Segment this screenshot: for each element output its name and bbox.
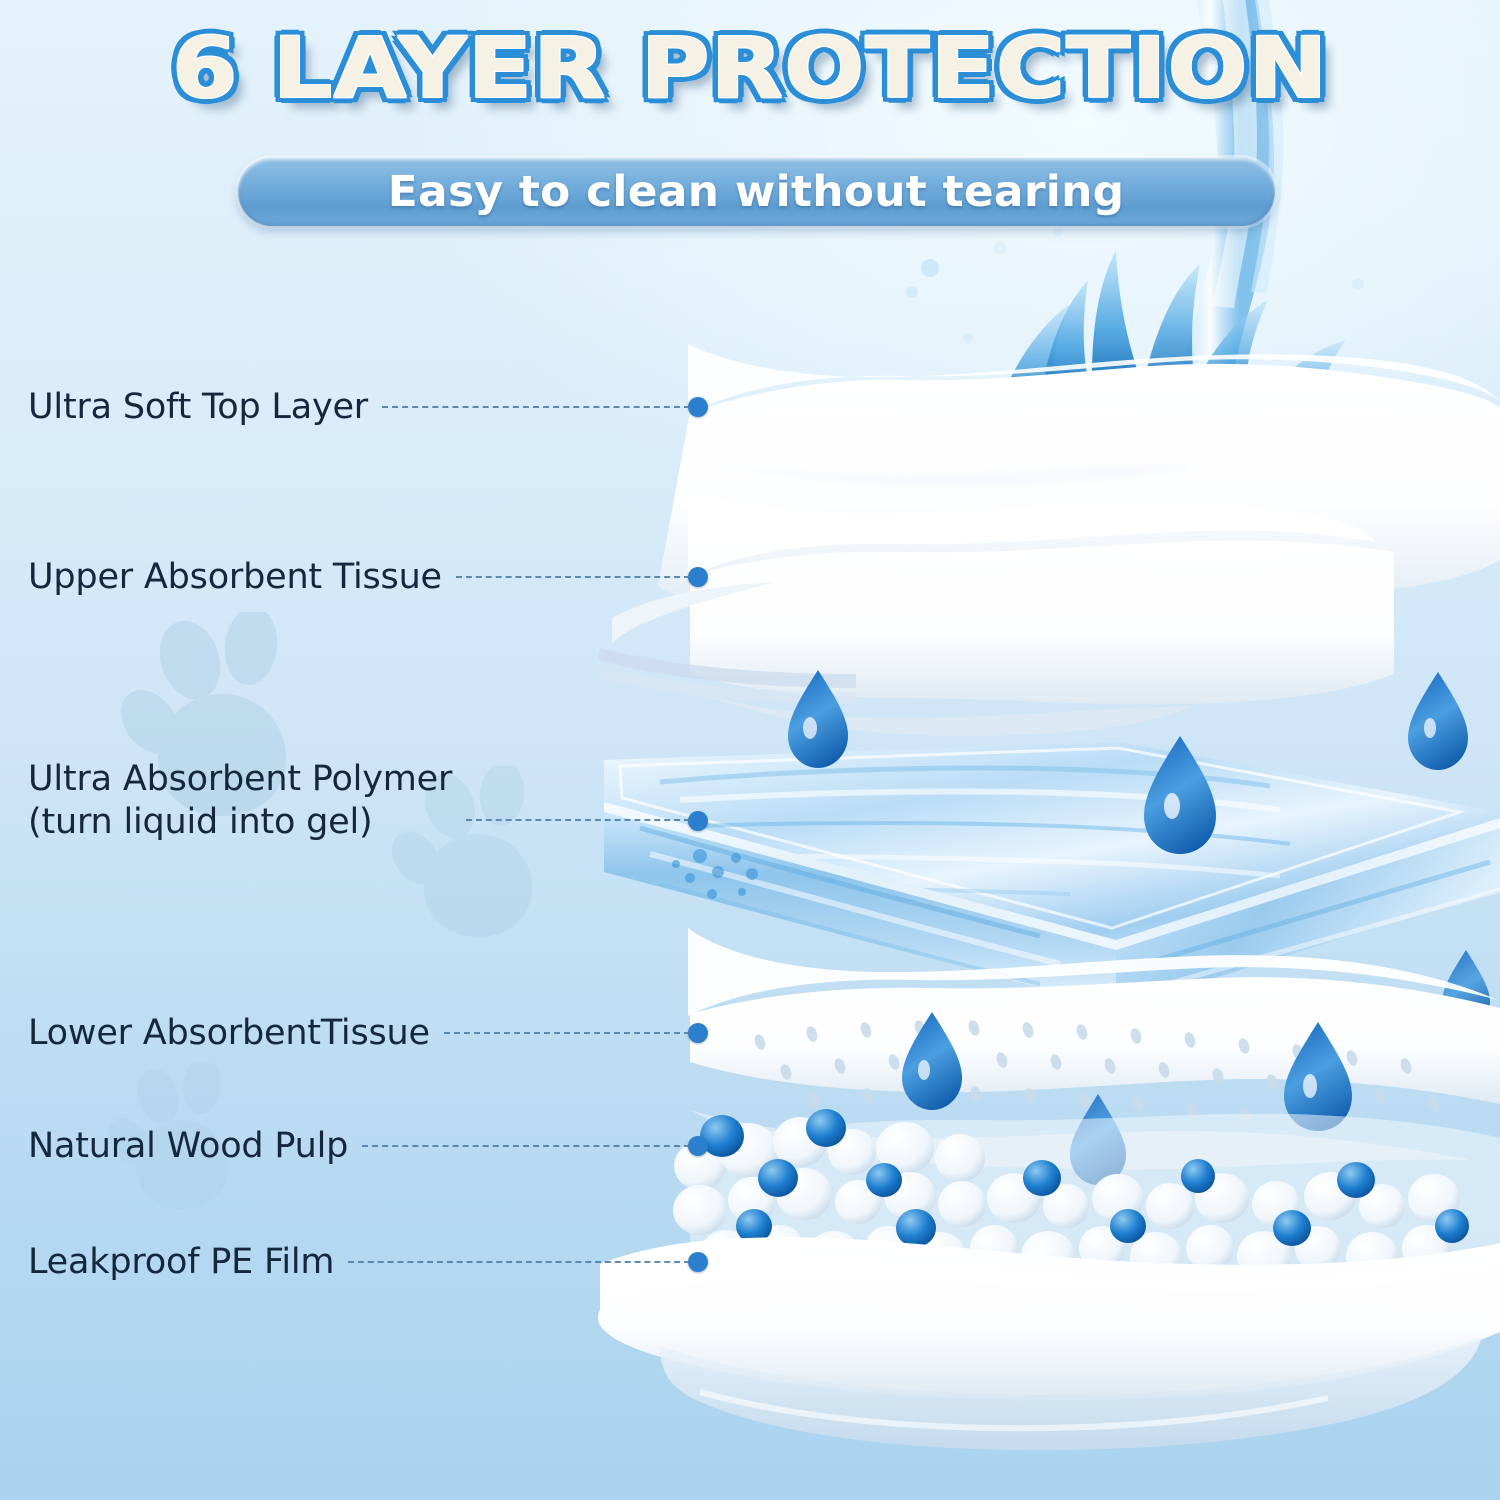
callout-label: Lower AbsorbentTissue [28,1012,430,1055]
callout-label: Upper Absorbent Tissue [28,556,442,599]
layer-upper-absorbent-tissue [598,492,1394,736]
infographic-canvas: 6 LAYER PROTECTION Easy to clean without… [0,0,1500,1500]
layer-leakproof-pe-film [598,1234,1500,1450]
leader-line [456,576,690,578]
leader-line [382,406,690,408]
leader-dot [688,811,708,831]
subtitle-pill: Easy to clean without tearing [238,158,1275,226]
leader-dot [688,1023,708,1043]
leader-dot [688,567,708,587]
page-title: 6 LAYER PROTECTION [172,26,1328,110]
leader-line [444,1032,690,1034]
callout-natural-wood-pulp: Natural Wood Pulp [28,1125,708,1168]
leader-line [348,1261,690,1263]
leader-line [466,819,690,821]
callout-leakproof-pe-film: Leakproof PE Film [28,1241,708,1284]
callout-lower-absorbent-tissue: Lower AbsorbentTissue [28,1012,708,1055]
callout-label: Ultra Absorbent Polymer (turn liquid int… [28,758,452,843]
callout-label: Ultra Soft Top Layer [28,386,368,429]
callout-label: Natural Wood Pulp [28,1125,348,1168]
subtitle-text: Easy to clean without tearing [388,167,1125,217]
leader-line [362,1145,690,1147]
callout-upper-absorbent-tissue: Upper Absorbent Tissue [28,556,708,599]
callout-ultra-absorbent-polymer: Ultra Absorbent Polymer (turn liquid int… [28,758,708,843]
title-block: 6 LAYER PROTECTION [0,26,1500,110]
leader-dot [688,397,708,417]
callout-label: Leakproof PE Film [28,1241,334,1284]
leader-dot [688,1252,708,1272]
leader-dot [688,1136,708,1156]
callout-ultra-soft-top-layer: Ultra Soft Top Layer [28,386,708,429]
